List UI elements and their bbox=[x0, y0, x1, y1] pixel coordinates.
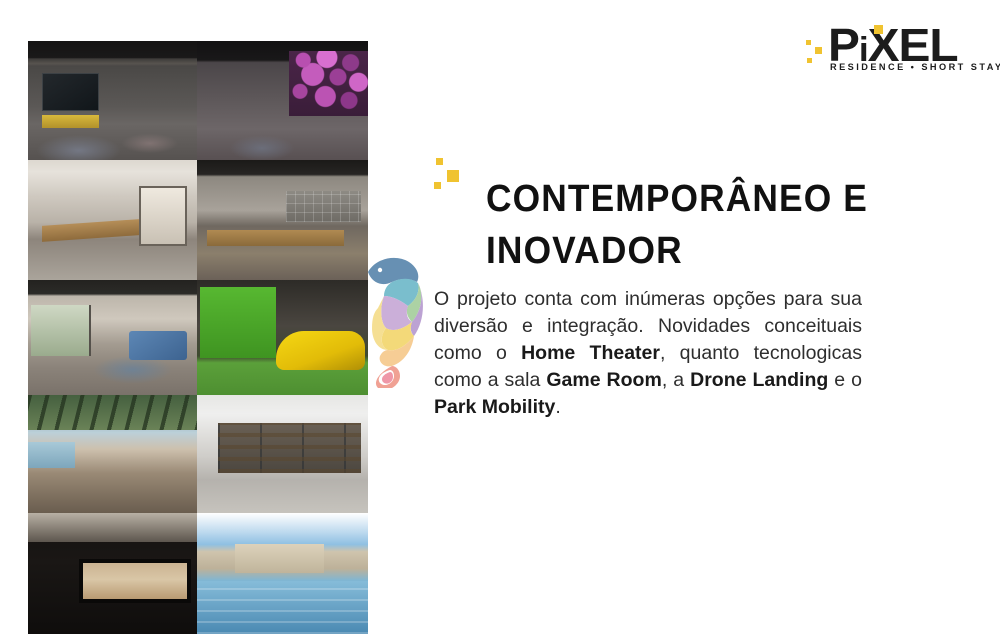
headline-dots-icon bbox=[433, 156, 463, 192]
amenity-photo-grid bbox=[28, 41, 368, 634]
photo-pool-facade bbox=[197, 513, 368, 634]
body-text-run: e o bbox=[828, 369, 862, 391]
amenity-highlight: Home Theater bbox=[521, 342, 660, 364]
body-text-run: , a bbox=[662, 369, 690, 391]
amenity-highlight: Park Mobility bbox=[434, 396, 555, 418]
logo-tagline: RESIDENCE • SHORT STAY bbox=[830, 62, 1000, 72]
render-home-theater-lounge bbox=[28, 41, 197, 160]
body-paragraph: O projeto conta com inúmeras opções para… bbox=[434, 286, 862, 421]
pixel-brand-logo: PiXEL RESIDENCE • SHORT STAY bbox=[804, 22, 982, 84]
logo-accent-square-icon bbox=[874, 25, 883, 34]
photo-rooftop-pergola bbox=[28, 395, 197, 513]
headline-block: CONTEMPORÂNEO E INOVADOR bbox=[433, 148, 953, 303]
photo-market-shelving bbox=[197, 395, 368, 513]
photo-bike-workshop bbox=[197, 160, 368, 280]
amenity-highlight: Game Room bbox=[546, 369, 661, 391]
render-rooftop-pergola bbox=[28, 395, 197, 513]
render-coworking-kitchen bbox=[28, 160, 197, 280]
photo-purple-acoustic-room bbox=[197, 41, 368, 160]
render-social-lounge bbox=[28, 280, 197, 395]
amenity-highlight: Drone Landing bbox=[690, 369, 828, 391]
render-ev-charging bbox=[197, 280, 368, 395]
page-title: CONTEMPORÂNEO E INOVADOR bbox=[486, 173, 920, 277]
photo-coworking-kitchen bbox=[28, 160, 197, 280]
photo-ev-charging bbox=[197, 280, 368, 395]
render-cinema-screen bbox=[28, 513, 197, 634]
render-pool-facade bbox=[197, 513, 368, 634]
photo-social-lounge bbox=[28, 280, 197, 395]
seahorse-icon bbox=[362, 248, 432, 388]
render-market-shelving bbox=[197, 395, 368, 513]
logo-dots-icon bbox=[804, 36, 830, 70]
render-purple-acoustic-room bbox=[197, 41, 368, 160]
photo-home-theater-lounge bbox=[28, 41, 197, 160]
photo-cinema-screen bbox=[28, 513, 197, 634]
body-text-run: . bbox=[555, 396, 560, 418]
render-bike-workshop bbox=[197, 160, 368, 280]
